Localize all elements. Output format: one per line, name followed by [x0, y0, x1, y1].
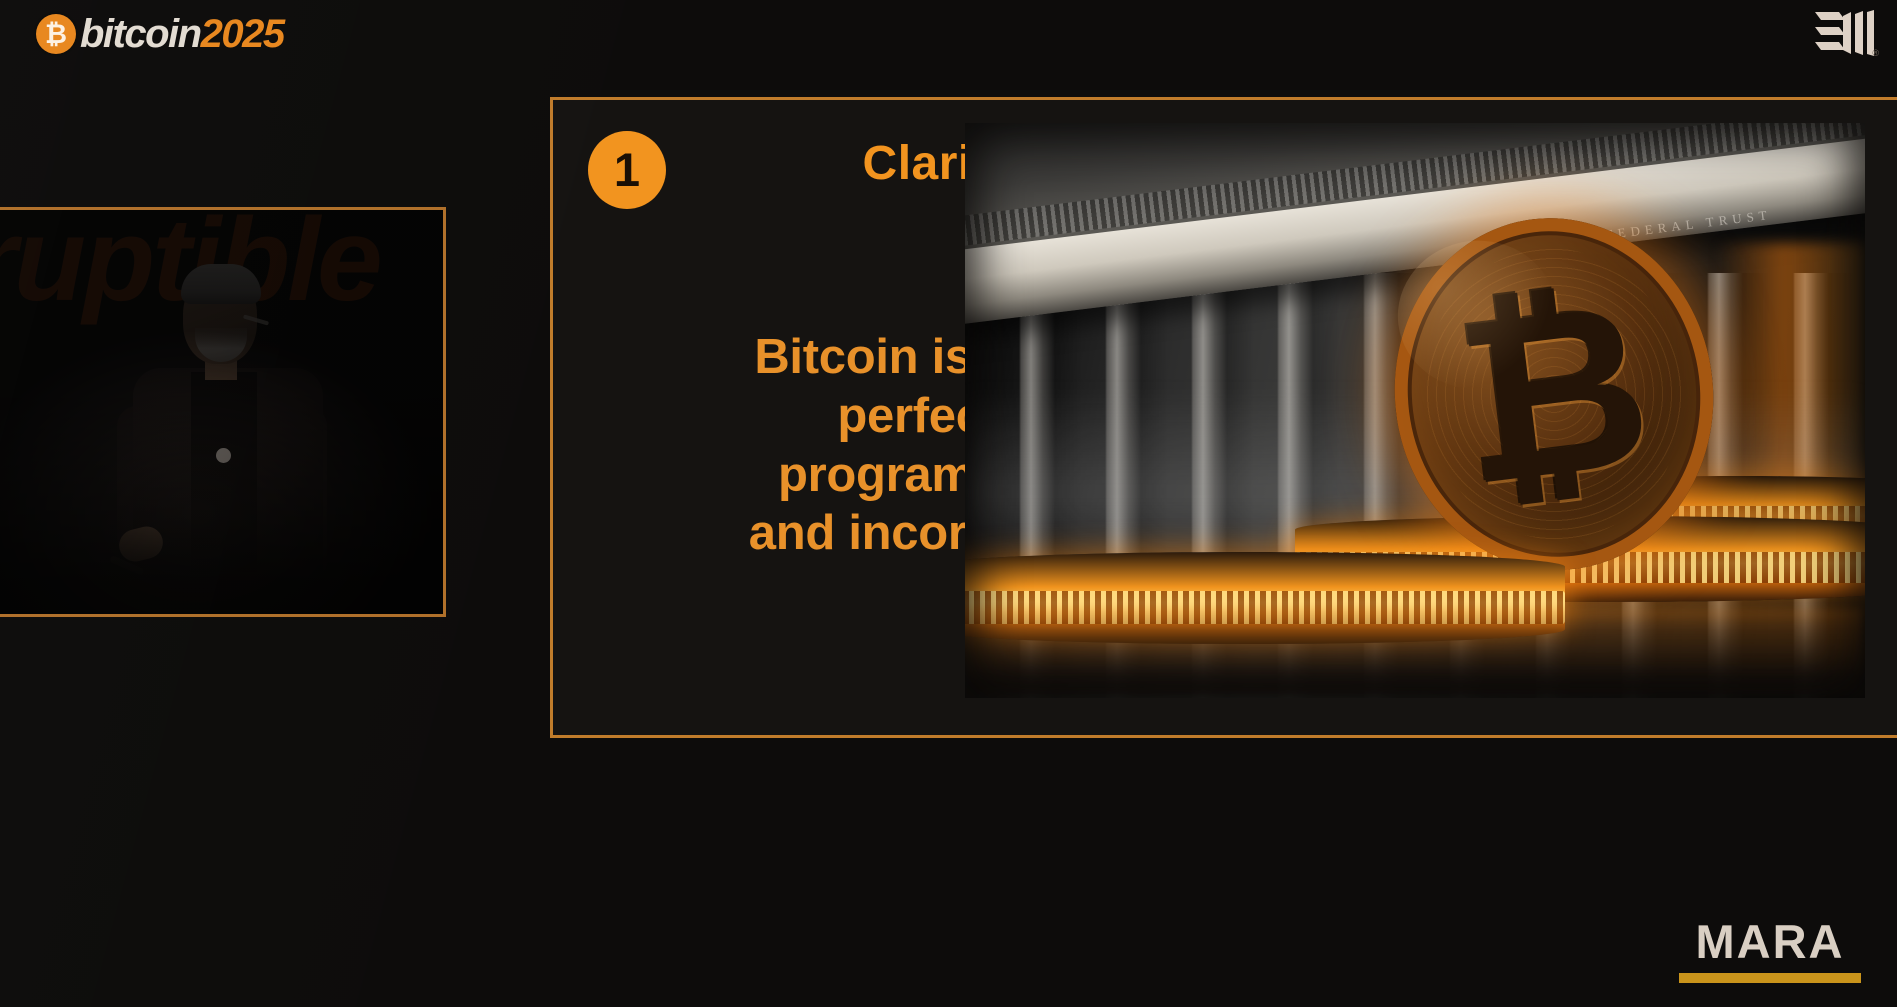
bitcoin-circle-icon: ₿ — [36, 14, 76, 54]
panel-vignette — [0, 210, 443, 614]
bitcoin-symbol: ₿ — [45, 21, 67, 48]
event-name-year: 2025 — [201, 12, 284, 56]
presentation-stage: ₿ bitcoin2025 ® ruptible — [0, 0, 1897, 1007]
mara-wordmark-underline — [1679, 973, 1861, 983]
slide-illustration: FEDERAL TRUST ₿ — [965, 123, 1865, 698]
mara-chevron-logo-icon: ® — [1811, 10, 1875, 56]
slide-card: 1 Clarity Bitcoin is capital, perfected,… — [550, 97, 1897, 738]
step-number-value: 1 — [614, 146, 640, 193]
step-number-badge: 1 — [588, 131, 666, 209]
event-logo: ₿ bitcoin2025 — [36, 8, 284, 60]
event-name-primary: bitcoin — [80, 12, 201, 56]
mara-wordmark-text: MARA — [1679, 918, 1861, 965]
illustration-edge-shadow — [965, 123, 1865, 698]
mara-wordmark: MARA — [1679, 918, 1861, 983]
registered-trademark-icon: ® — [1872, 48, 1879, 58]
event-wordmark: bitcoin2025 — [80, 14, 284, 54]
speaker-video-panel: ruptible — [0, 207, 446, 617]
